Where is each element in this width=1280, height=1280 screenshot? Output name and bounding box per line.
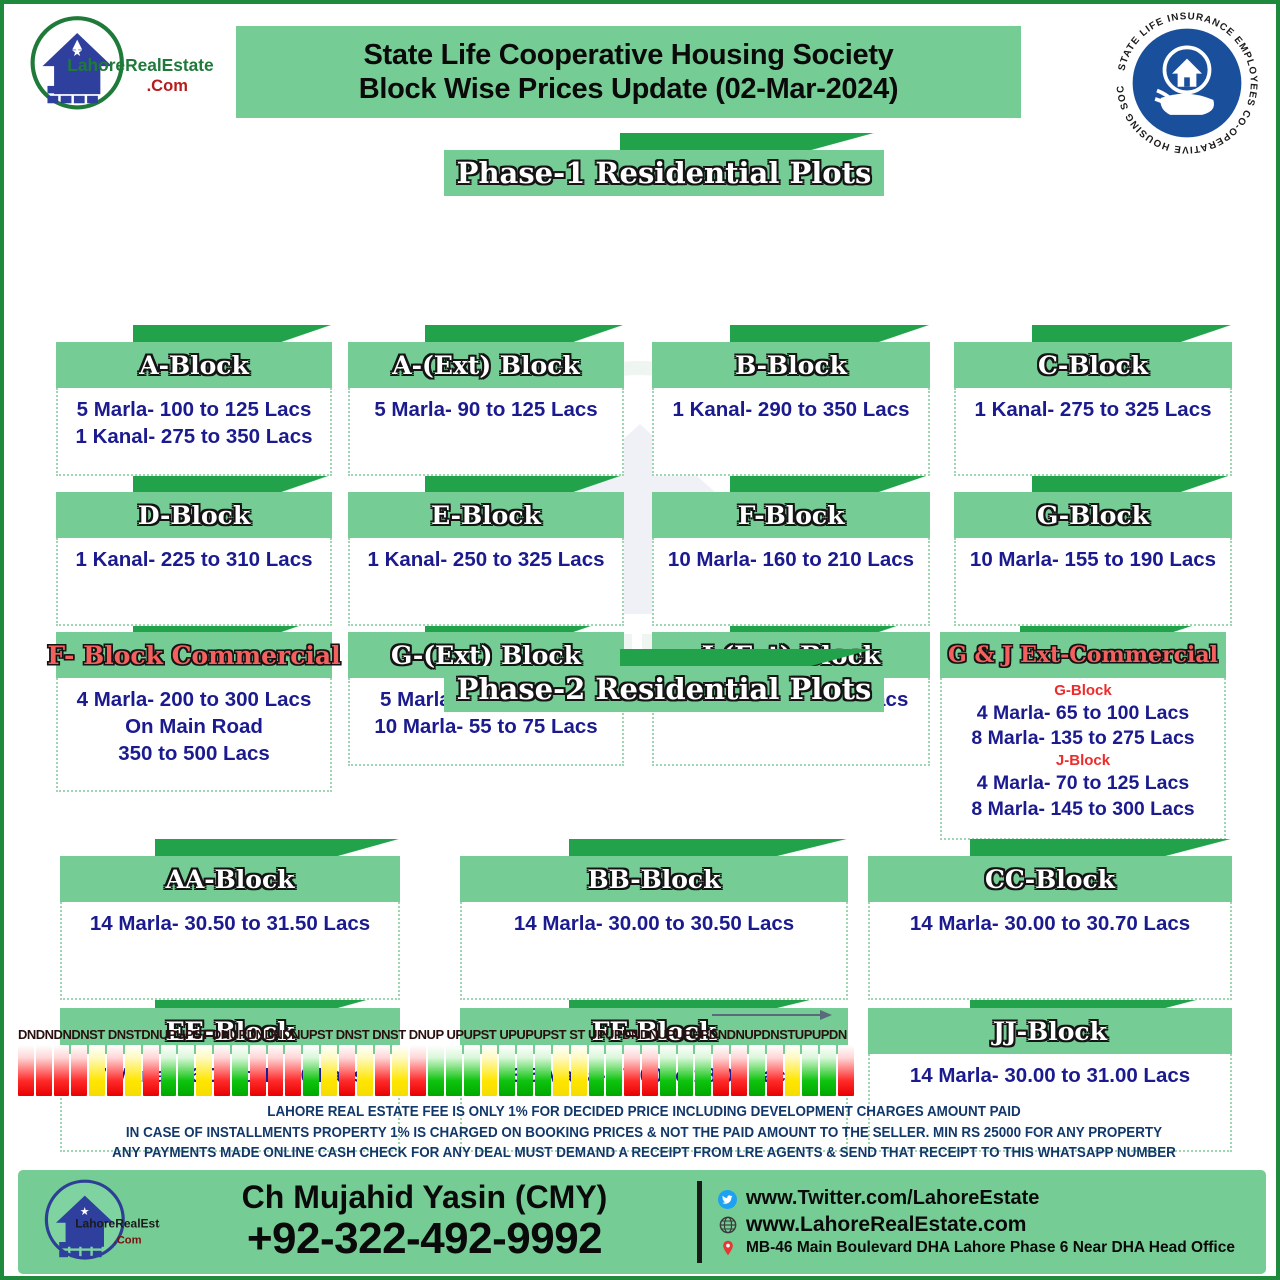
price-line: 14 Marla- 30.00 to 31.00 Lacs — [876, 1062, 1224, 1089]
trend-bar — [196, 1045, 212, 1096]
footer-logo-text: LahoreRealEstate — [75, 1217, 160, 1231]
card-body: G-Block 4 Marla- 65 to 100 Lacs 8 Marla-… — [940, 678, 1226, 840]
price-line: 14 Marla- 30.00 to 30.50 Lacs — [468, 910, 840, 937]
disclaimer-line-2: IN CASE OF INSTALLMENTS PROPERTY 1% IS C… — [55, 1123, 1233, 1144]
trend-bar — [375, 1045, 391, 1096]
price-line: 10 Marla- 160 to 210 Lacs — [660, 546, 922, 573]
trend-bar — [624, 1045, 640, 1096]
trend-bar — [499, 1045, 515, 1096]
footer-logo-suffix: .Com — [114, 1235, 142, 1247]
price-line: 1 Kanal- 250 to 325 Lacs — [356, 546, 616, 573]
phase2-banner: Phase-2 Residential Plots — [444, 666, 884, 712]
trend-bar — [161, 1045, 177, 1096]
phase1-banner-label: Phase-1 Residential Plots — [457, 156, 872, 190]
twitter-handle: www.Twitter.com/LahoreEstate — [746, 1186, 1039, 1211]
card-header: A-Block — [56, 342, 332, 388]
disclaimer-line-1: LAHORE REAL ESTATE FEE IS ONLY 1% FOR DE… — [55, 1102, 1233, 1123]
card-body: 10 Marla- 160 to 210 Lacs — [652, 538, 930, 626]
disclaimer-line-3: ANY PAYMENTS MADE ONLINE CASH CHECK FOR … — [55, 1143, 1233, 1164]
block-card-b[interactable]: B-Block 1 Kanal- 290 to 350 Lacs — [652, 342, 930, 476]
trend-bar — [36, 1045, 52, 1096]
agent-contact-block: Ch Mujahid Yasin (CMY) +92-322-492-9992 — [160, 1181, 697, 1263]
block-title: F-Block — [738, 501, 845, 530]
trend-bars — [18, 1045, 854, 1096]
trend-bar — [535, 1045, 551, 1096]
trend-bar — [482, 1045, 498, 1096]
price-line: 350 to 500 Lacs — [64, 740, 324, 767]
block-title: G & J Ext-Commercial — [948, 642, 1218, 668]
trend-bar — [71, 1045, 87, 1096]
card-body: 1 Kanal- 290 to 350 Lacs — [652, 388, 930, 476]
trend-bar — [642, 1045, 658, 1096]
card-body: 5 Marla- 100 to 125 Lacs 1 Kanal- 275 to… — [56, 388, 332, 476]
page-title: State Life Cooperative Housing Society B… — [236, 26, 1021, 118]
trend-bar — [571, 1045, 587, 1096]
website-row[interactable]: www.LahoreRealEstate.com — [718, 1212, 1266, 1238]
trend-bar — [125, 1045, 141, 1096]
disclaimer-block: LAHORE REAL ESTATE FEE IS ONLY 1% FOR DE… — [4, 1102, 1280, 1164]
block-card-a-ext[interactable]: A-(Ext) Block 5 Marla- 90 to 125 Lacs — [348, 342, 624, 476]
trend-bar — [767, 1045, 783, 1096]
phase2-banner-wrap: Phase-2 Residential Plots — [444, 666, 884, 712]
block-card-gj-ext-commercial[interactable]: G & J Ext-Commercial G-Block 4 Marla- 65… — [940, 632, 1226, 840]
trend-bar — [660, 1045, 676, 1096]
trend-bar — [678, 1045, 694, 1096]
trend-bar — [285, 1045, 301, 1096]
trend-bar — [713, 1045, 729, 1096]
block-title: A-Block — [139, 351, 249, 380]
price-line: 8 Marla- 145 to 300 Lacs — [948, 797, 1218, 823]
price-line: 1 Kanal- 275 to 350 Lacs — [64, 423, 324, 450]
trend-bar — [339, 1045, 355, 1096]
block-title: B-Block — [735, 351, 847, 380]
block-card-g[interactable]: G-Block 10 Marla- 155 to 190 Lacs — [954, 492, 1232, 626]
card-header: D-Block — [56, 492, 332, 538]
card-header: E-Block — [348, 492, 624, 538]
trend-bar — [250, 1045, 266, 1096]
location-pin-icon — [718, 1238, 737, 1257]
trend-bar — [802, 1045, 818, 1096]
trend-bar — [731, 1045, 747, 1096]
trend-bar — [89, 1045, 105, 1096]
subgroup-label-j: J-Block — [948, 752, 1218, 771]
trend-bar — [749, 1045, 765, 1096]
block-card-c[interactable]: C-Block 1 Kanal- 275 to 325 Lacs — [954, 342, 1232, 476]
card-header: JJ-Block — [868, 1008, 1232, 1054]
price-line: 4 Marla- 200 to 300 Lacs — [64, 686, 324, 713]
card-header: B-Block — [652, 342, 930, 388]
contact-footer: ★ LahoreRealEstate .Com Ch Mujahid Yasin… — [18, 1170, 1266, 1274]
footer-lahore-real-estate-logo: ★ LahoreRealEstate .Com — [40, 1176, 160, 1268]
trend-bar — [303, 1045, 319, 1096]
trend-bar — [428, 1045, 444, 1096]
trend-bar — [321, 1045, 337, 1096]
block-card-cc[interactable]: CC-Block 14 Marla- 30.00 to 30.70 Lacs — [868, 856, 1232, 1000]
card-header: F- Block Commercial — [56, 632, 332, 678]
card-body: 10 Marla- 155 to 190 Lacs — [954, 538, 1232, 626]
price-line: 10 Marla- 155 to 190 Lacs — [962, 546, 1224, 573]
trend-bar — [268, 1045, 284, 1096]
block-card-f-commercial[interactable]: F- Block Commercial 4 Marla- 200 to 300 … — [56, 632, 332, 792]
card-body: 14 Marla- 30.50 to 31.50 Lacs — [60, 902, 400, 1000]
price-line: 1 Kanal- 290 to 350 Lacs — [660, 396, 922, 423]
logo-suffix: .Com — [147, 76, 188, 95]
price-line: 5 Marla- 90 to 125 Lacs — [356, 396, 616, 423]
card-header: BB-Block — [460, 856, 848, 902]
card-header: C-Block — [954, 342, 1232, 388]
card-body: 14 Marla- 30.00 to 30.70 Lacs — [868, 902, 1232, 1000]
trend-bar — [820, 1045, 836, 1096]
price-line: 8 Marla- 135 to 275 Lacs — [948, 726, 1218, 752]
block-title: C-Block — [1038, 351, 1148, 380]
block-card-aa[interactable]: AA-Block 14 Marla- 30.50 to 31.50 Lacs — [60, 856, 400, 1000]
market-trend-strip: DNDNDNDNST DNSTDNUPUPST DNUPDNDNDNUPST D… — [18, 1024, 854, 1096]
card-header: CC-Block — [868, 856, 1232, 902]
block-title: A-(Ext) Block — [392, 351, 580, 380]
trend-bar — [517, 1045, 533, 1096]
trend-bar — [606, 1045, 622, 1096]
block-title: E-Block — [431, 501, 541, 530]
card-body: 4 Marla- 200 to 300 Lacs On Main Road 35… — [56, 678, 332, 792]
logo-text: LahoreRealEstate — [67, 55, 214, 75]
trend-bar — [446, 1045, 462, 1096]
trend-bar — [54, 1045, 70, 1096]
price-line: 1 Kanal- 225 to 310 Lacs — [64, 546, 324, 573]
block-card-a[interactable]: A-Block 5 Marla- 100 to 125 Lacs 1 Kanal… — [56, 342, 332, 476]
card-header: G-Block — [954, 492, 1232, 538]
card-body: 1 Kanal- 275 to 325 Lacs — [954, 388, 1232, 476]
trend-bar — [18, 1045, 34, 1096]
subgroup-label-g: G-Block — [948, 682, 1218, 701]
block-title: G-Block — [1037, 501, 1149, 530]
trend-bar — [107, 1045, 123, 1096]
price-line: 14 Marla- 30.50 to 31.50 Lacs — [68, 910, 392, 937]
trend-bar — [392, 1045, 408, 1096]
price-line: 10 Marla- 55 to 75 Lacs — [356, 713, 616, 740]
block-title: BB-Block — [588, 865, 721, 894]
trend-bar — [178, 1045, 194, 1096]
card-body: 5 Marla- 90 to 125 Lacs — [348, 388, 624, 476]
twitter-row[interactable]: www.Twitter.com/LahoreEstate — [718, 1186, 1266, 1211]
trend-arrow-icon — [712, 1008, 832, 1022]
trend-bar — [410, 1045, 426, 1096]
trend-bar — [553, 1045, 569, 1096]
price-note: On Main Road — [64, 713, 324, 740]
title-line-2: Block Wise Prices Update (02-Mar-2024) — [359, 72, 899, 106]
footer-links: www.Twitter.com/LahoreEstate www.LahoreR… — [702, 1186, 1266, 1257]
price-line: 4 Marla- 70 to 125 Lacs — [948, 771, 1218, 797]
title-line-1: State Life Cooperative Housing Society — [363, 38, 893, 72]
agent-phone[interactable]: +92-322-492-9992 — [160, 1215, 689, 1263]
trend-bar — [695, 1045, 711, 1096]
office-address: MB-46 Main Boulevard DHA Lahore Phase 6 … — [746, 1238, 1235, 1258]
block-title: D-Block — [138, 501, 250, 530]
card-header: A-(Ext) Block — [348, 342, 624, 388]
price-line: 5 Marla- 100 to 125 Lacs — [64, 396, 324, 423]
trend-bar — [838, 1045, 854, 1096]
trend-bar — [589, 1045, 605, 1096]
trend-bar — [785, 1045, 801, 1096]
infographic-page: LRE ★ LahoreRealEstate .Com State Life C… — [0, 0, 1280, 1280]
card-header: AA-Block — [60, 856, 400, 902]
phase2-banner-label: Phase-2 Residential Plots — [457, 672, 872, 706]
state-life-society-seal-logo: STATE LIFE INSURANCE EMPLOYEES CO-OPERAT… — [1112, 8, 1262, 158]
block-card-d[interactable]: D-Block 1 Kanal- 225 to 310 Lacs — [56, 492, 332, 626]
trend-bar — [357, 1045, 373, 1096]
twitter-icon — [718, 1190, 737, 1209]
trend-bar — [214, 1045, 230, 1096]
block-card-f[interactable]: F-Block 10 Marla- 160 to 210 Lacs — [652, 492, 930, 626]
trend-bar — [232, 1045, 248, 1096]
address-row: MB-46 Main Boulevard DHA Lahore Phase 6 … — [718, 1238, 1266, 1258]
card-body: 14 Marla- 30.00 to 30.50 Lacs — [460, 902, 848, 1000]
trend-bar — [143, 1045, 159, 1096]
block-title: CC-Block — [985, 865, 1115, 894]
agent-name: Ch Mujahid Yasin (CMY) — [160, 1181, 689, 1215]
card-header: G & J Ext-Commercial — [940, 632, 1226, 678]
trend-labels: DNDNDNDNST DNSTDNUPUPST DNUPDNDNDNUPST D… — [18, 1024, 854, 1044]
globe-icon — [718, 1215, 737, 1234]
block-title: JJ-Block — [993, 1017, 1107, 1046]
lahore-real-estate-logo: ★ LahoreRealEstate .Com — [26, 14, 216, 119]
price-line: 1 Kanal- 275 to 325 Lacs — [962, 396, 1224, 423]
card-body: 1 Kanal- 250 to 325 Lacs — [348, 538, 624, 626]
website-url: www.LahoreRealEstate.com — [746, 1212, 1026, 1238]
price-line: 4 Marla- 65 to 100 Lacs — [948, 701, 1218, 727]
block-title: AA-Block — [165, 865, 294, 894]
block-card-bb[interactable]: BB-Block 14 Marla- 30.00 to 30.50 Lacs — [460, 856, 848, 1000]
block-title: F- Block Commercial — [47, 641, 340, 670]
price-line: 14 Marla- 30.00 to 30.70 Lacs — [876, 910, 1224, 937]
phase1-banner-wrap: Phase-1 Residential Plots — [444, 150, 884, 196]
block-card-e[interactable]: E-Block 1 Kanal- 250 to 325 Lacs — [348, 492, 624, 626]
card-header: F-Block — [652, 492, 930, 538]
phase1-banner: Phase-1 Residential Plots — [444, 150, 884, 196]
trend-bar — [464, 1045, 480, 1096]
card-body: 1 Kanal- 225 to 310 Lacs — [56, 538, 332, 626]
page-header: ★ LahoreRealEstate .Com State Life Coope… — [4, 4, 1276, 124]
